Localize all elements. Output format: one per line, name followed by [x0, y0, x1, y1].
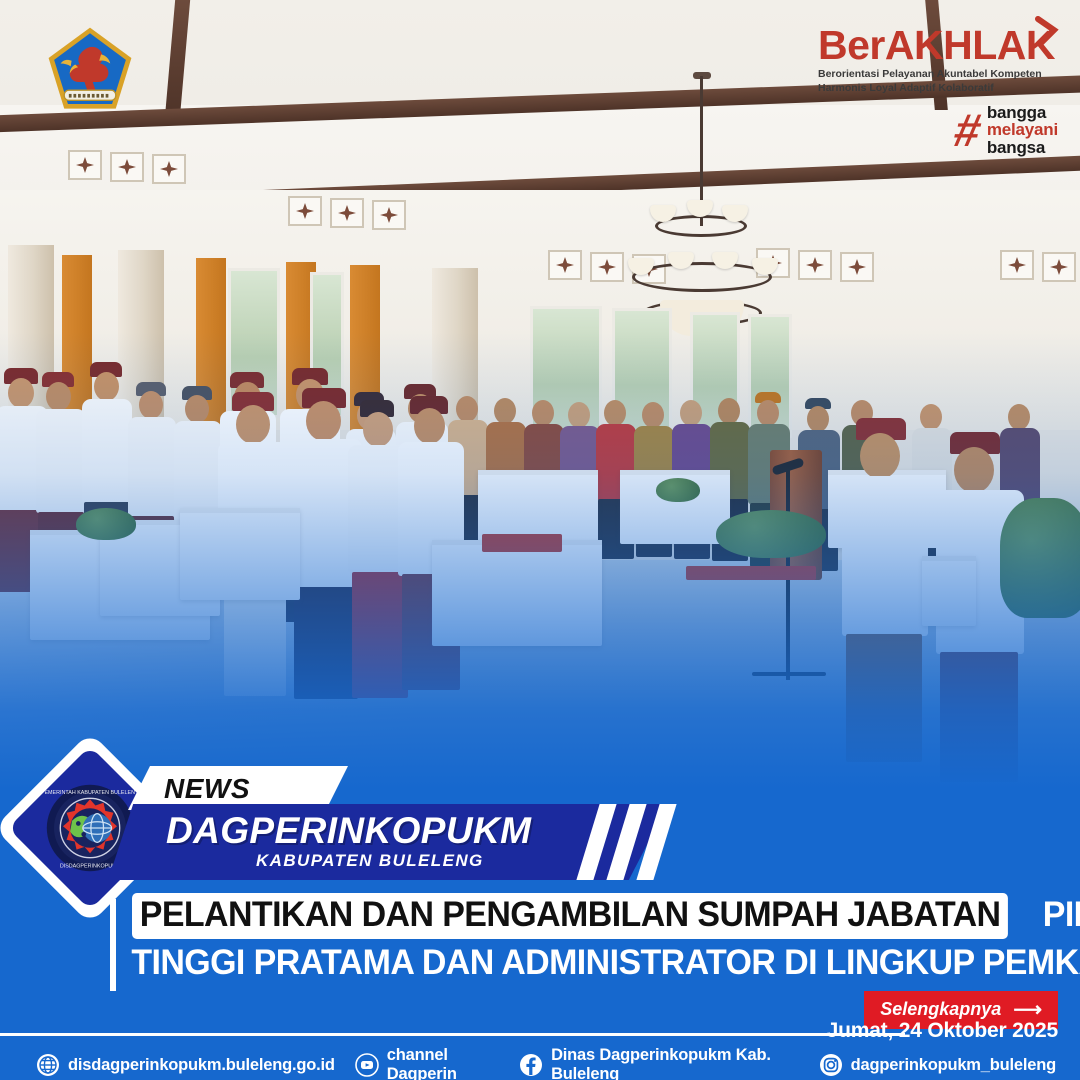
- headline-line2: TINGGI PRATAMA DAN ADMINISTRATOR DI LING…: [110, 943, 1012, 983]
- publish-date: Jumat, 24 Oktober 2025: [827, 1019, 1058, 1043]
- news-banner: PEMERINTAH KABUPATEN BULELENG DISDAGPERI…: [0, 752, 1080, 887]
- bangga-line-2: melayani: [987, 121, 1058, 138]
- footer-item-facebook[interactable]: Dinas Dagperinkopukm Kab. Buleleng: [519, 1046, 799, 1080]
- footer-contacts: disdagperinkopukm.buleleng.go.id channel…: [36, 1046, 1056, 1080]
- berakhlak-logo: BerAKHLAK Berorientasi Pelayanan Akuntab…: [818, 26, 1058, 96]
- buleleng-regency-emblem-icon: [44, 24, 136, 116]
- footer-item-website[interactable]: disdagperinkopukm.buleleng.go.id: [36, 1053, 335, 1077]
- bangga-line-1: bangga: [987, 104, 1058, 121]
- instagram-icon: [819, 1053, 843, 1077]
- bangga-melayani-bangsa-logo: # bangga melayani bangsa: [955, 104, 1058, 156]
- hashtag-icon: #: [951, 112, 984, 149]
- photo-blue-fade: [0, 0, 1080, 790]
- news-tab-label: NEWS: [164, 773, 250, 805]
- berakhlak-tagline-1: Berorientasi Pelayanan Akuntabel Kompete…: [818, 68, 1058, 82]
- footer-label-facebook: Dinas Dagperinkopukm Kab. Buleleng: [551, 1046, 799, 1080]
- headline-highlight: PELANTIKAN DAN PENGAMBILAN SUMPAH JABATA…: [132, 893, 1008, 939]
- footer-item-youtube[interactable]: channel Dagperin: [355, 1046, 499, 1080]
- event-photo: [0, 0, 1080, 790]
- department-title: DAGPERINKOPUKM: [166, 810, 531, 852]
- read-more-label: Selengkapnya: [880, 999, 1001, 1020]
- headline-line1-rest: PIMPINAN: [1035, 895, 1080, 935]
- svg-text:DISDAGPERINKOPUKM: DISDAGPERINKOPUKM: [60, 864, 121, 870]
- bangga-line-3: bangsa: [987, 139, 1058, 156]
- footer-label-youtube: channel Dagperin: [387, 1046, 499, 1080]
- department-subtitle: KABUPATEN BULELENG: [256, 851, 484, 871]
- social-media-poster: BerAKHLAK Berorientasi Pelayanan Akuntab…: [0, 0, 1080, 1080]
- berakhlak-tagline-2: Harmonis Loyal Adaptif Kolaboratif: [818, 82, 1058, 96]
- footer-label-instagram: dagperinkopukm_buleleng: [851, 1056, 1056, 1075]
- youtube-icon: [355, 1053, 379, 1077]
- berakhlak-suffix: AKHLAK: [885, 22, 1055, 68]
- footer-divider: [0, 1033, 905, 1036]
- headline: PELANTIKAN DAN PENGAMBILAN SUMPAH JABATA…: [110, 893, 1040, 983]
- news-tab: NEWS: [128, 766, 348, 810]
- chevron-right-icon: [1034, 16, 1060, 46]
- footer-item-instagram[interactable]: dagperinkopukm_buleleng: [819, 1053, 1056, 1077]
- facebook-icon: [519, 1053, 543, 1077]
- globe-icon: [36, 1053, 60, 1077]
- berakhlak-prefix: Ber: [818, 22, 885, 68]
- svg-text:PEMERINTAH KABUPATEN BULELENG: PEMERINTAH KABUPATEN BULELENG: [45, 790, 135, 796]
- footer-label-website: disdagperinkopukm.buleleng.go.id: [68, 1056, 335, 1075]
